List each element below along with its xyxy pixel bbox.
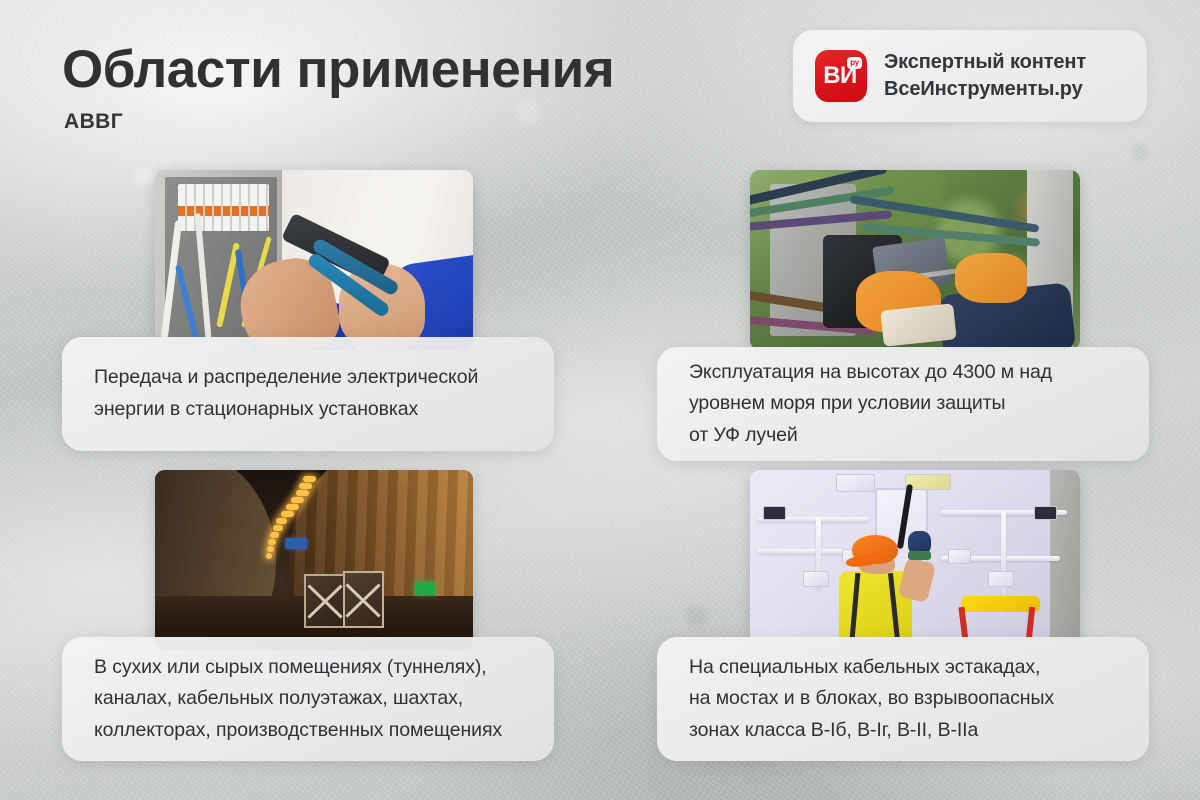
card-image-electrician-wiring-distribution-panel: [155, 170, 473, 350]
brand-line-1: Экспертный контент: [884, 50, 1086, 75]
card-caption-4: На специальных кабельных эстакадах, на м…: [657, 637, 1149, 761]
page-subtitle: АВВГ: [64, 110, 123, 134]
caption-text-1: Передача и распределение электрической э…: [94, 362, 478, 425]
brand-badge: ВИ ру Экспертный контент ВсеИнструменты.…: [793, 30, 1147, 122]
logo-domain-superscript: ру: [847, 57, 862, 69]
slide-canvas: Области применения АВВГ ВИ ру Экспертный…: [0, 0, 1200, 800]
card-caption-3: В сухих или сырых помещениях (туннелях),…: [62, 637, 554, 761]
card-image-worker-installing-conduit: [750, 470, 1080, 650]
card-caption-2: Эксплуатация на высотах до 4300 м над ур…: [657, 347, 1149, 461]
caption-text-2: Эксплуатация на высотах до 4300 м над ур…: [689, 357, 1052, 452]
page-title: Области применения: [62, 42, 614, 98]
vseinstrumenty-logo-icon: ВИ ру: [815, 50, 867, 102]
caption-text-4: На специальных кабельных эстакадах, на м…: [689, 652, 1054, 747]
tunnel-ceiling-lights: [244, 474, 339, 575]
brand-text-block: Экспертный контент ВсеИнструменты.ру: [884, 50, 1086, 102]
brand-line-2: ВсеИнструменты.ру: [884, 77, 1086, 102]
caption-text-3: В сухих или сырых помещениях (туннелях),…: [94, 652, 502, 747]
card-image-outdoor-cable-junction-box: [750, 170, 1080, 350]
tunnel-blue-sign: [285, 538, 307, 549]
tunnel-exit-sign: [415, 582, 435, 595]
card-image-lit-road-tunnel: [155, 470, 473, 650]
card-caption-1: Передача и распределение электрической э…: [62, 337, 554, 451]
